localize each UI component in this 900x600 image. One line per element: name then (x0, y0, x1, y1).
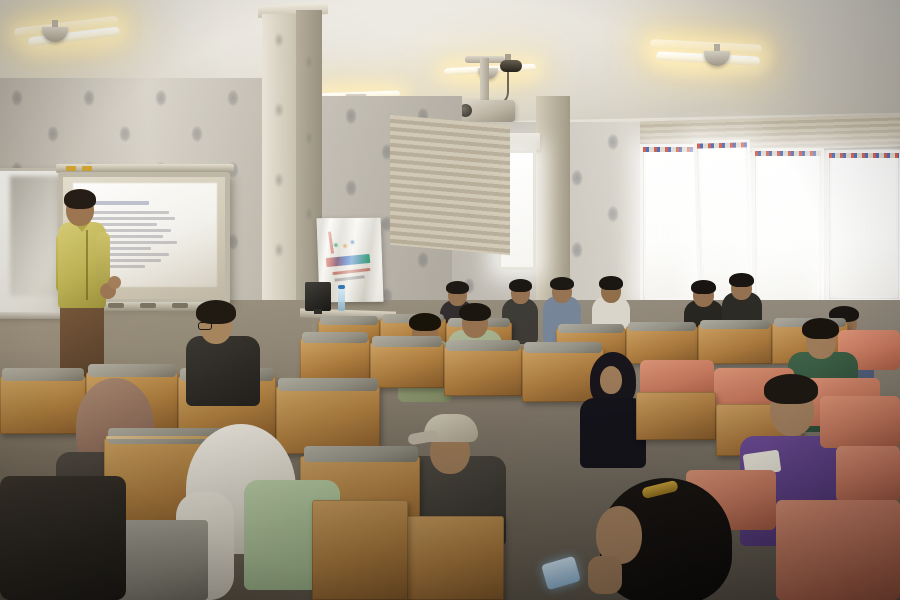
window-pane-4[interactable] (826, 150, 900, 302)
board-marker[interactable] (108, 303, 124, 308)
seat-cushion[interactable] (116, 520, 208, 600)
foreground-seat-shadow (0, 476, 126, 600)
presenter-right-hand (108, 276, 121, 289)
hand (588, 556, 622, 594)
monitor-stand (314, 309, 322, 314)
window-blind-center[interactable] (390, 115, 510, 255)
board-eraser[interactable] (172, 303, 188, 308)
lecture-hall-photo (0, 0, 900, 600)
presenter-hair (64, 189, 96, 209)
water-bottle[interactable] (338, 288, 345, 311)
window-group-right (640, 140, 900, 320)
eyeglasses-icon (198, 322, 212, 330)
camera-body (500, 60, 522, 72)
window-film-strip (755, 151, 821, 156)
window-pane-1[interactable] (640, 144, 702, 304)
presenter-shirt-placket (86, 230, 88, 300)
window-pane-3[interactable] (752, 148, 824, 306)
board-marker[interactable] (140, 303, 156, 308)
seat-back-front[interactable] (312, 500, 408, 600)
seat-back-front[interactable] (398, 516, 504, 600)
computer-monitor[interactable] (305, 282, 331, 311)
window-film-strip (643, 147, 699, 152)
bottle-cap (338, 285, 345, 289)
window-film-strip (829, 153, 899, 158)
column-face (262, 14, 296, 340)
